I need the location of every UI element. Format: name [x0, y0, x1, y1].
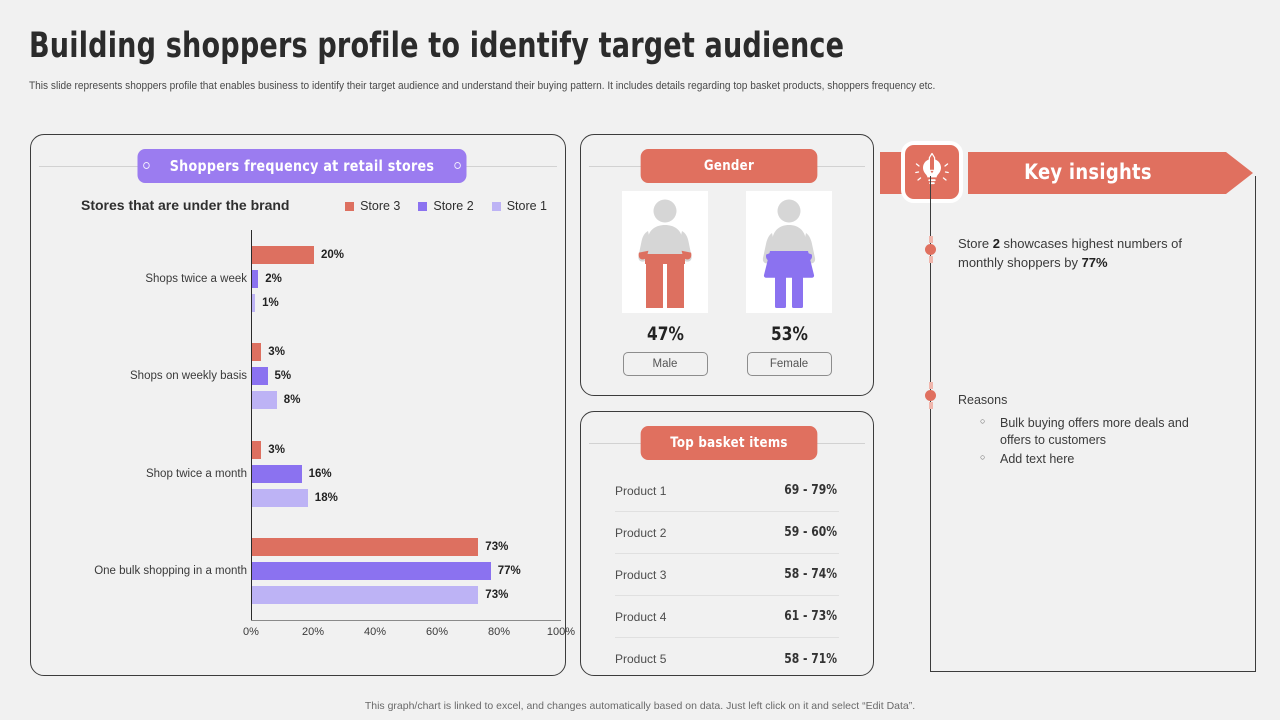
reason-bullet: Add text here	[978, 451, 1218, 468]
x-axis-tick-label: 20%	[302, 626, 324, 638]
basket-row[interactable]: Product 461 - 73%	[615, 596, 839, 638]
reason-bullet: Bulk buying offers more deals and offers…	[978, 415, 1218, 449]
legend-item-store-3[interactable]: Store 3	[345, 199, 400, 213]
insight-statement: Store 2 showcases highest numbers of mon…	[958, 235, 1218, 273]
bar-value-label: 18%	[315, 492, 338, 504]
top-basket-items-card: Top basket items Product 169 - 79%Produc…	[580, 411, 874, 676]
basket-row[interactable]: Product 259 - 60%	[615, 512, 839, 554]
bar-value-label: 5%	[275, 370, 292, 382]
insight-store-number: 2	[993, 236, 1000, 251]
basket-row[interactable]: Product 358 - 74%	[615, 554, 839, 596]
chart-pill-header: Shoppers frequency at retail stores	[31, 149, 565, 183]
insight-lead-text: Store	[958, 236, 993, 251]
bar-value-label: 1%	[262, 297, 279, 309]
legend-swatch-icon	[492, 202, 501, 211]
page-subtitle: This slide represents shoppers profile t…	[29, 80, 1069, 92]
x-axis-tick-label: 80%	[488, 626, 510, 638]
x-axis-tick-label: 60%	[426, 626, 448, 638]
legend-swatch-icon	[345, 202, 354, 211]
bar-value-label: 73%	[485, 541, 508, 553]
page-title: Building shoppers profile to identify ta…	[29, 26, 844, 66]
chart-panel-title-label: Shoppers frequency at retail stores	[170, 157, 434, 175]
gender-card: Gender 47%Male53%Female	[580, 134, 874, 396]
basket-row[interactable]: Product 558 - 71%	[615, 638, 839, 680]
gender-pill-header: Gender	[581, 149, 873, 183]
basket-panel-title-pill: Top basket items	[641, 426, 818, 460]
shoppers-frequency-card: Shoppers frequency at retail stores Stor…	[30, 134, 566, 676]
male-figure-icon	[622, 191, 708, 313]
gender-percent: 53%	[771, 323, 808, 345]
category-label: One bulk shopping in a month	[94, 565, 247, 577]
chart-legend: Store 3Store 2Store 1	[345, 199, 547, 213]
insight-percent-value: 77%	[1082, 255, 1108, 270]
pill-knob-right-icon	[454, 162, 461, 169]
bar-value-label: 3%	[268, 444, 285, 456]
gender-label-button[interactable]: Male	[623, 352, 708, 376]
bar-value-label: 77%	[498, 565, 521, 577]
bar-store-3[interactable]	[252, 246, 314, 264]
insight-marker-dot-1	[925, 244, 936, 255]
gender-percent: 47%	[647, 323, 684, 345]
pill-knob-left-icon	[143, 162, 150, 169]
footnote: This graph/chart is linked to excel, and…	[0, 700, 1280, 712]
reasons-list: Bulk buying offers more deals and offers…	[978, 415, 1218, 470]
female-figure-icon	[746, 191, 832, 313]
x-axis-line	[251, 620, 561, 621]
bar-value-label: 8%	[284, 394, 301, 406]
legend-item-store-1[interactable]: Store 1	[492, 199, 547, 213]
basket-pill-header: Top basket items	[581, 426, 873, 460]
chart-header: Stores that are under the brand Store 3S…	[81, 197, 547, 217]
reasons-heading: Reasons	[958, 393, 1007, 407]
basket-product-name: Product 1	[615, 484, 666, 498]
basket-row[interactable]: Product 169 - 79%	[615, 470, 839, 512]
basket-product-range: 58 - 71%	[784, 652, 837, 667]
basket-product-range: 59 - 60%	[784, 525, 837, 540]
insight-marker-dot-2	[925, 390, 936, 401]
gender-panel-title-pill: Gender	[641, 149, 818, 183]
basket-product-name: Product 4	[615, 610, 666, 624]
bar-value-label: 3%	[268, 346, 285, 358]
category-label: Shop twice a month	[146, 468, 247, 480]
basket-product-range: 69 - 79%	[784, 483, 837, 498]
bar-store-3[interactable]	[252, 538, 478, 556]
bar-store-1[interactable]	[252, 294, 255, 312]
slide-root: Building shoppers profile to identify ta…	[0, 0, 1280, 720]
category-label: Shops twice a week	[145, 273, 247, 285]
legend-label: Store 1	[507, 199, 547, 213]
category-axis: Shops twice a weekShops on weekly basisS…	[51, 230, 247, 655]
legend-item-store-2[interactable]: Store 2	[418, 199, 473, 213]
x-axis-tick-label: 100%	[547, 626, 575, 638]
basket-product-name: Product 3	[615, 568, 666, 582]
bar-store-2[interactable]	[252, 465, 302, 483]
gender-figures-row: 47%Male53%Female	[581, 191, 873, 376]
x-axis-tick-label: 0%	[243, 626, 259, 638]
basket-product-name: Product 5	[615, 652, 666, 666]
legend-label: Store 2	[433, 199, 473, 213]
gender-label-button[interactable]: Female	[747, 352, 832, 376]
bar-store-3[interactable]	[252, 343, 261, 361]
bar-value-label: 16%	[309, 468, 332, 480]
chart-panel-title-pill: Shoppers frequency at retail stores	[138, 149, 467, 183]
bar-store-2[interactable]	[252, 562, 491, 580]
basket-panel-title-label: Top basket items	[670, 435, 788, 451]
chart-title: Stores that are under the brand	[81, 197, 289, 213]
bar-store-2[interactable]	[252, 367, 268, 385]
basket-product-range: 61 - 73%	[784, 609, 837, 624]
bar-store-2[interactable]	[252, 270, 258, 288]
legend-swatch-icon	[418, 202, 427, 211]
gender-item-male: 47%Male	[620, 191, 710, 376]
bar-value-label: 20%	[321, 249, 344, 261]
x-axis-tick-label: 40%	[364, 626, 386, 638]
bar-store-1[interactable]	[252, 489, 308, 507]
bar-value-label: 73%	[485, 589, 508, 601]
bar-store-1[interactable]	[252, 391, 277, 409]
bar-chart-plot: Shops twice a weekShops on weekly basisS…	[51, 230, 561, 655]
legend-label: Store 3	[360, 199, 400, 213]
bar-value-label: 2%	[265, 273, 282, 285]
gender-panel-title-label: Gender	[704, 158, 754, 174]
basket-product-range: 58 - 74%	[784, 567, 837, 582]
gender-item-female: 53%Female	[744, 191, 834, 376]
bars-area: 20%2%1%3%5%8%3%16%18%73%77%73% 0%20%40%6…	[251, 230, 561, 655]
bar-store-3[interactable]	[252, 441, 261, 459]
basket-product-name: Product 2	[615, 526, 666, 540]
bar-store-1[interactable]	[252, 586, 478, 604]
category-label: Shops on weekly basis	[130, 370, 247, 382]
basket-items-list: Product 169 - 79%Product 259 - 60%Produc…	[615, 470, 839, 680]
